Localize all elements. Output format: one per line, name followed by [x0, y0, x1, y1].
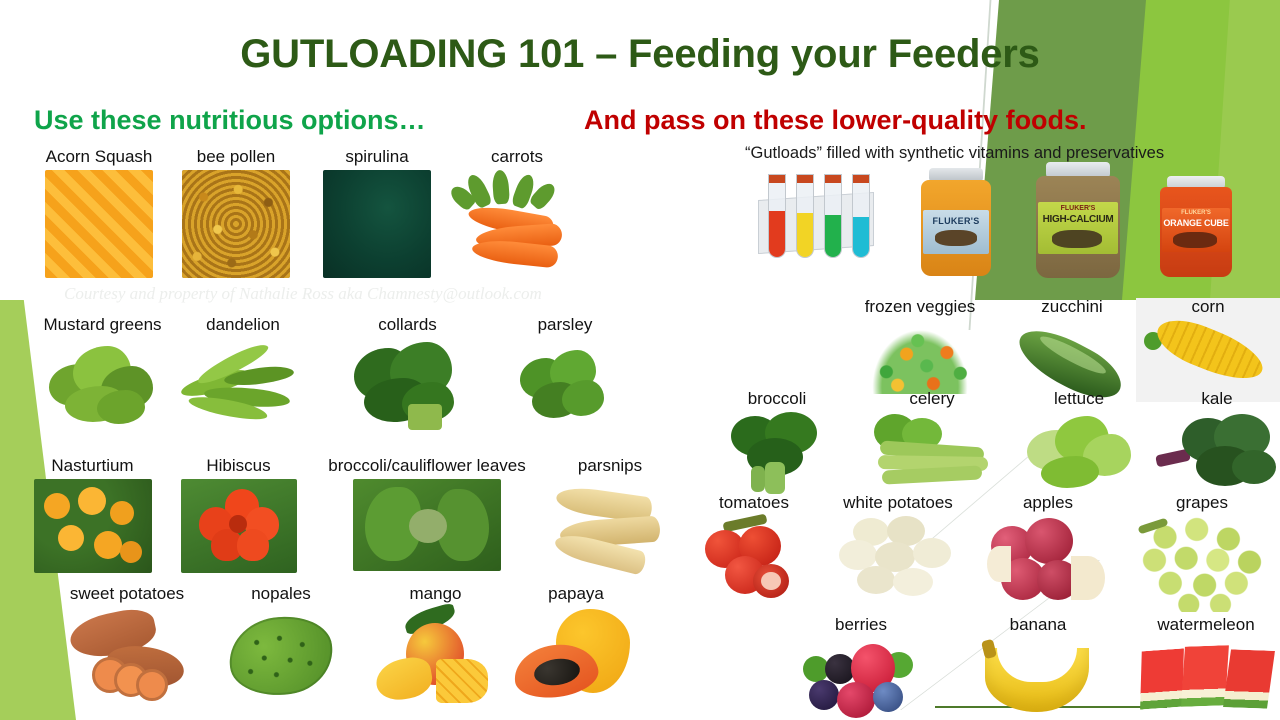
- hibiscus-flower-art: [181, 479, 297, 573]
- item-label: apples: [1023, 494, 1073, 511]
- item-label: broccoli/cauliflower leaves: [328, 457, 525, 474]
- item-label: zucchini: [1041, 298, 1102, 315]
- item-label: kale: [1201, 390, 1232, 407]
- mustard-greens-art: [43, 338, 163, 434]
- item-label: Nasturtium: [51, 457, 133, 474]
- nasturtium-flowers-art: [34, 479, 152, 573]
- white-potatoes-art: [835, 516, 961, 600]
- item-label: dandelion: [206, 316, 280, 333]
- mixed-berries-art: [799, 638, 923, 720]
- item-label: Hibiscus: [206, 457, 270, 474]
- broccoli-art: [725, 412, 829, 496]
- item-label: sweet potatoes: [70, 585, 184, 602]
- good-column-heading: Use these nutritious options…: [34, 105, 426, 136]
- corn-cob-art: [1144, 320, 1272, 400]
- sweet-potatoes-art: [62, 607, 192, 707]
- item-label: banana: [1010, 616, 1067, 633]
- squash-cubes-art: [45, 170, 153, 278]
- item-label: mango: [410, 585, 462, 602]
- bad-column-heading: And pass on these lower-quality foods.: [584, 105, 1087, 136]
- item-corn: corn: [1136, 298, 1280, 402]
- flukers-cricket-jar-art: FLUKER'S: [915, 168, 997, 278]
- item-label: grapes: [1176, 494, 1228, 511]
- jar-product-label: ORANGE CUBE: [1162, 218, 1230, 228]
- mango-art: [374, 607, 498, 711]
- parsnips-art: [550, 479, 670, 571]
- infographic-canvas: GUTLOADING 101 – Feeding your Feeders Us…: [0, 0, 1280, 720]
- tomatoes-art: [699, 516, 809, 608]
- item-label: watermeleon: [1157, 616, 1254, 633]
- item-label: broccoli: [748, 390, 807, 407]
- item-label: nopales: [251, 585, 311, 602]
- item-label: white potatoes: [843, 494, 953, 511]
- papaya-art: [512, 607, 640, 711]
- spirulina-powder-art: [323, 170, 431, 278]
- item-label: collards: [378, 316, 437, 333]
- frozen-mixed-vegetables-art: [864, 320, 976, 394]
- item-label: bee pollen: [197, 148, 275, 165]
- celery-art: [866, 412, 998, 496]
- flukers-orange-cube-jar-art: FLUKER'S ORANGE CUBE: [1157, 176, 1235, 278]
- lettuce-art: [1021, 412, 1137, 492]
- item-label: papaya: [548, 585, 604, 602]
- green-grapes-art: [1136, 516, 1268, 612]
- collard-greens-art: [346, 338, 470, 434]
- item-label: corn: [1191, 298, 1224, 315]
- apples-art: [987, 516, 1109, 610]
- page-title: GUTLOADING 101 – Feeding your Feeders: [0, 32, 1280, 77]
- item-label: Acorn Squash: [46, 148, 153, 165]
- item-label: spirulina: [345, 148, 408, 165]
- jar-brand-label: FLUKER'S: [1162, 210, 1230, 216]
- jar-brand-label: FLUKER'S: [1038, 205, 1118, 212]
- nopal-cactus-pad-art: [225, 607, 337, 703]
- kale-art: [1156, 412, 1278, 498]
- flukers-high-calcium-jar-art: FLUKER'S HIGH-CALCIUM: [1032, 162, 1124, 280]
- test-tube-rack-art: [754, 168, 882, 274]
- item-label: frozen veggies: [865, 298, 976, 315]
- item-label: celery: [909, 390, 954, 407]
- watermelon-slices-art: [1136, 638, 1276, 718]
- jar-product-label: HIGH-CALCIUM: [1038, 214, 1118, 225]
- dandelion-greens-art: [176, 338, 310, 434]
- item-label: berries: [835, 616, 887, 633]
- item-label: parsley: [538, 316, 593, 333]
- item-label: lettuce: [1054, 390, 1104, 407]
- gutload-note: “Gutloads” filled with synthetic vitamin…: [745, 144, 1164, 163]
- item-label: parsnips: [578, 457, 642, 474]
- jar-brand-label: FLUKER'S: [923, 216, 989, 226]
- bee-pollen-granules-art: [182, 170, 290, 278]
- parsley-art: [510, 338, 620, 434]
- brassica-leaves-art: [353, 479, 501, 571]
- banana-art: [979, 638, 1097, 720]
- item-label: tomatoes: [719, 494, 789, 511]
- carrots-art: [442, 170, 592, 278]
- item-label: carrots: [491, 148, 543, 165]
- watermark-credit: Courtesy and property of Nathalie Ross a…: [64, 284, 542, 304]
- item-label: Mustard greens: [43, 316, 161, 333]
